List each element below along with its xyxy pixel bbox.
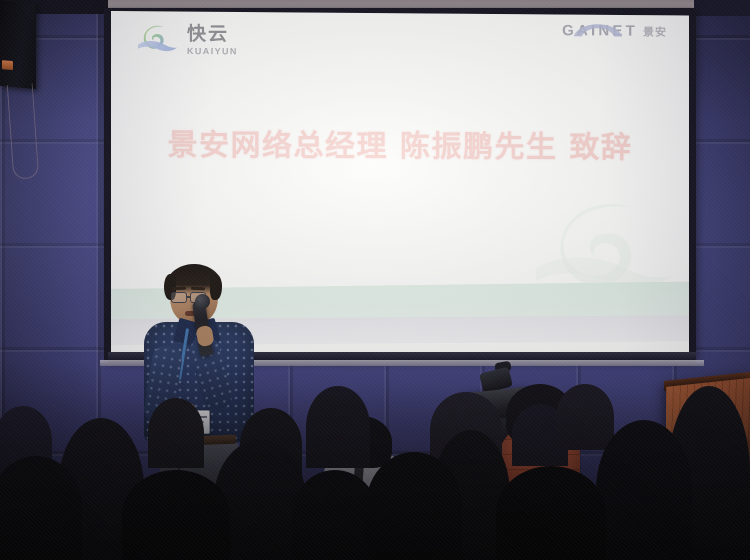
presenter-hair-side-right <box>210 274 222 300</box>
kuaiyun-logo-chinese: 快云 <box>187 25 229 44</box>
audience-head <box>306 386 370 468</box>
gainet-logo-chinese: 景安 <box>643 27 667 39</box>
audience-head <box>496 466 606 560</box>
audience-head <box>122 470 230 560</box>
kuaiyun-logo-english: KUAIYUN <box>187 47 238 56</box>
gainet-logo: GAINET 景安 <box>562 23 667 39</box>
arc-dome-icon <box>571 17 625 37</box>
kuaiyun-logo-text: 快云 KUAIYUN <box>187 25 238 56</box>
audience-head <box>0 456 82 560</box>
ceiling-shadow-right <box>694 0 750 16</box>
conference-photo-scene: 快云 KUAIYUN GAINET 景安 景安网络总经理 陈振鹏先生 致辞 <box>0 0 750 560</box>
slide-title: 景安网络总经理 陈振鹏先生 致辞 <box>111 120 689 167</box>
eyeglasses-bridge <box>187 296 191 298</box>
wall-speaker <box>0 0 36 89</box>
speaker-led-icon <box>2 60 13 70</box>
audience-head <box>366 452 462 560</box>
audience-head <box>556 384 614 450</box>
swirl-wave-icon <box>137 22 179 58</box>
kuaiyun-logo: 快云 KUAIYUN <box>137 22 238 59</box>
audience-head <box>148 398 204 468</box>
audience-head <box>596 420 692 560</box>
eyeglasses-lens-left <box>171 292 187 303</box>
